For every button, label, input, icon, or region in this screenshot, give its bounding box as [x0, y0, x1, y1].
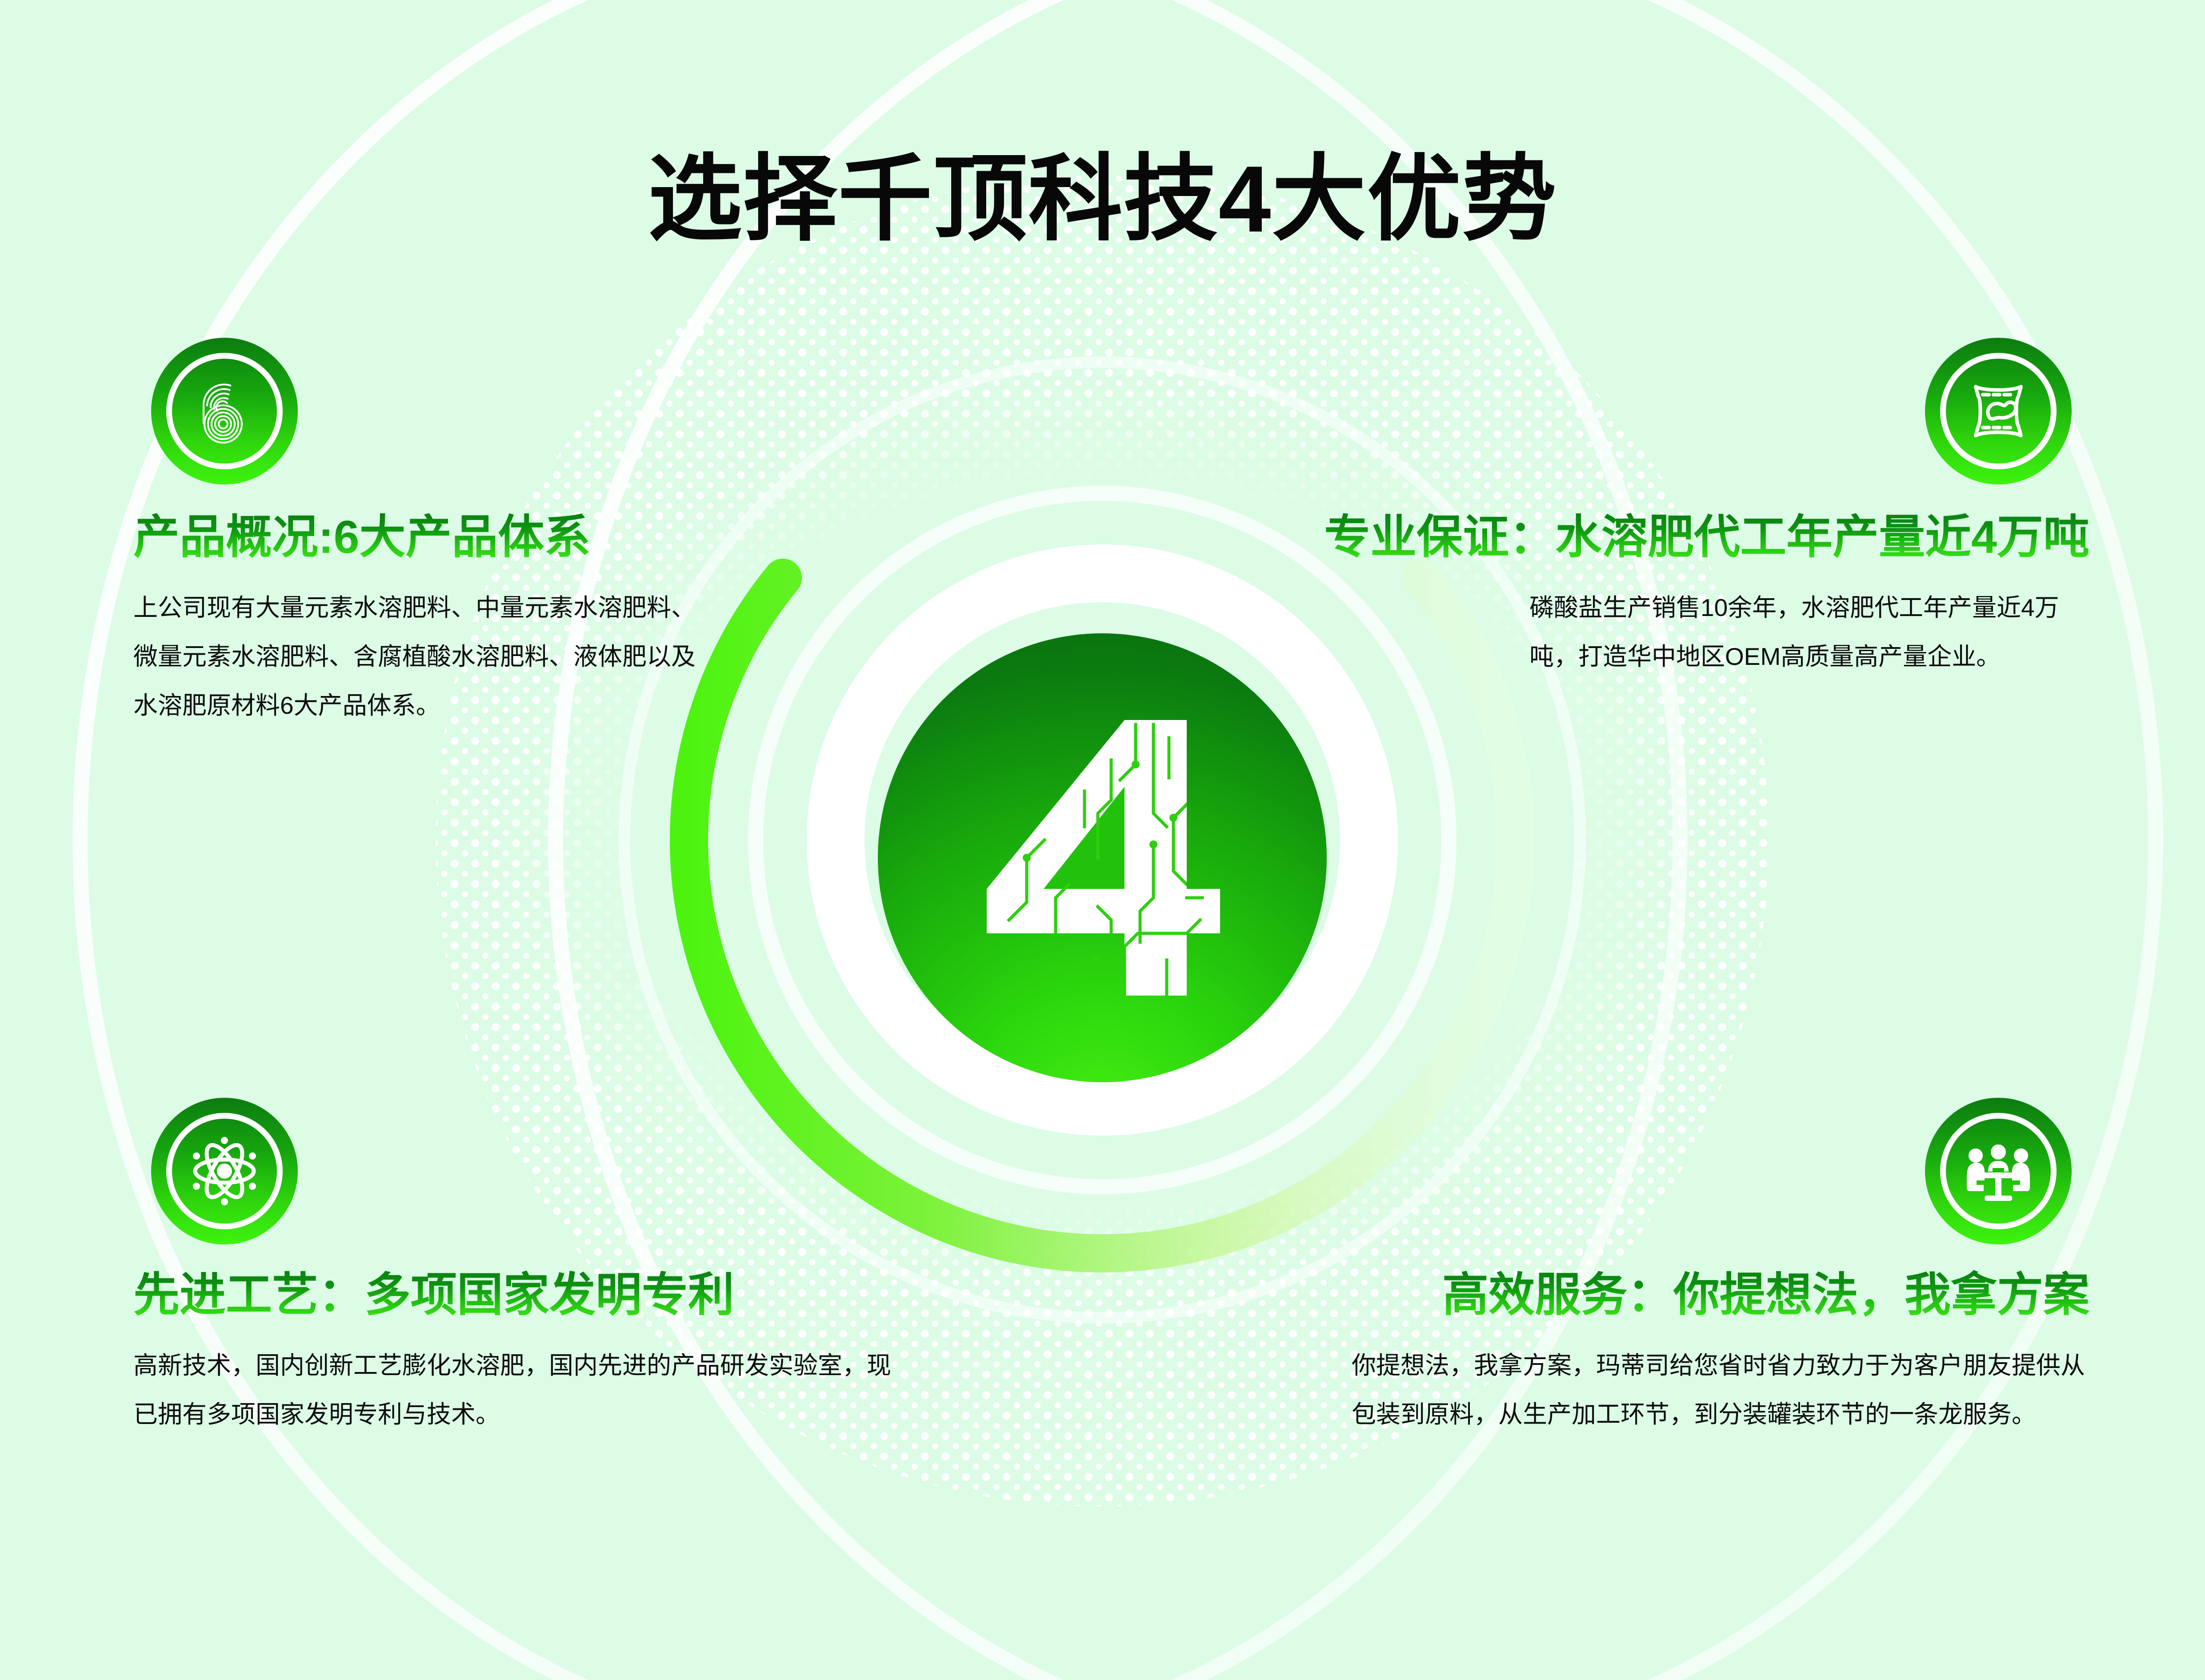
- infographic-canvas: 选择千顶科技4大优势: [0, 0, 2205, 1680]
- advantage-card-capacity[interactable]: 专业保证：水溶肥代工年产量近4万吨 磷酸盐生产销售10余年，水溶肥代工年产量近4…: [1134, 338, 2089, 681]
- advantage-card-product[interactable]: 产品概况:6大产品体系 上公司现有大量元素水溶肥料、中量元素水溶肥料、微量元素水…: [133, 338, 756, 730]
- card-heading: 先进工艺：多项国家发明专利: [133, 1269, 933, 1322]
- card-body: 你提想法，我拿方案，玛蒂司给您省时省力致力于为客户朋友提供从包装到原料，从生产加…: [1352, 1341, 2089, 1439]
- page-title: 选择千顶科技4大优势: [0, 152, 2205, 246]
- card-body: 上公司现有大量元素水溶肥料、中量元素水溶肥料、微量元素水溶肥料、含腐植酸水溶肥料…: [133, 583, 707, 730]
- center-number-four-icon: [978, 711, 1227, 1004]
- fertilizer-bag-icon: [1956, 369, 2041, 453]
- meeting-table-icon: [1956, 1129, 2041, 1213]
- badge-circle-capacity: [1925, 338, 2072, 484]
- badge-circle-service: [1925, 1098, 2072, 1244]
- card-body: 磷酸盐生产销售10余年，水溶肥代工年产量近4万吨，打造华中地区OEM高质量高产量…: [1529, 583, 2089, 681]
- card-body: 高新技术，国内创新工艺膨化水溶肥，国内先进的产品研发实验室，现已拥有多项国家发明…: [133, 1341, 898, 1439]
- badge-circle-tech: [151, 1098, 298, 1244]
- card-heading: 高效服务：你提想法，我拿方案: [1312, 1269, 2089, 1322]
- card-heading: 专业保证：水溶肥代工年产量近4万吨: [1134, 511, 2089, 564]
- advantage-card-service[interactable]: 高效服务：你提想法，我拿方案 你提想法，我拿方案，玛蒂司给您省时省力致力于为客户…: [1312, 1098, 2089, 1439]
- number-six-rings-icon: [182, 369, 267, 453]
- advantage-card-tech[interactable]: 先进工艺：多项国家发明专利 高新技术，国内创新工艺膨化水溶肥，国内先进的产品研发…: [133, 1098, 933, 1439]
- card-heading: 产品概况:6大产品体系: [133, 511, 756, 564]
- atom-icon: [182, 1129, 267, 1213]
- badge-circle-product: [151, 338, 298, 484]
